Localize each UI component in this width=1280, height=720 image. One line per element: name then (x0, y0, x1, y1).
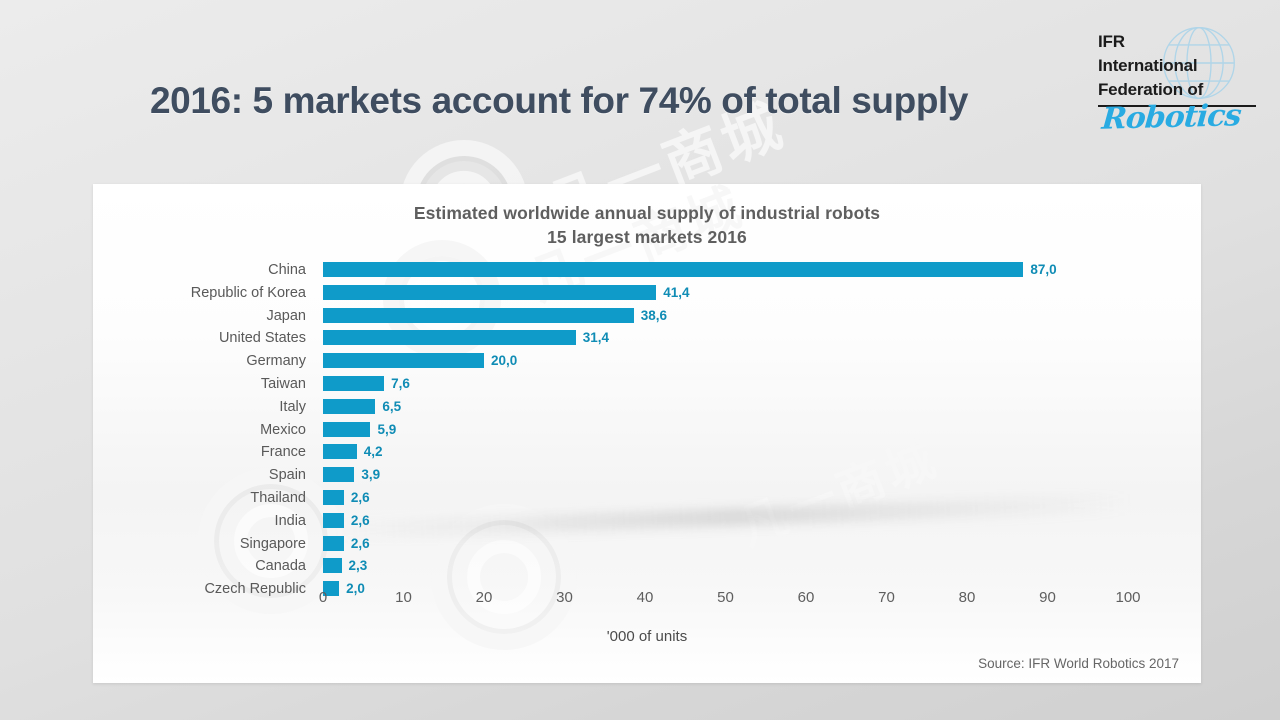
x-axis: 0102030405060708090100 (93, 589, 1201, 623)
category-label: Italy (93, 396, 315, 419)
x-axis-tick: 60 (798, 589, 815, 606)
bar-value-label: 4,2 (364, 443, 383, 460)
page-title: 2016: 5 markets account for 74% of total… (150, 80, 968, 122)
bar-value-label: 5,9 (377, 421, 396, 438)
x-axis-tick: 0 (319, 589, 327, 606)
bar-value-label: 2,3 (349, 557, 368, 574)
x-axis-tick: 10 (395, 589, 412, 606)
bar (323, 376, 384, 391)
logo-script-robotics: Robotics (1100, 98, 1241, 137)
bar-row: Canada2,3 (93, 555, 1201, 578)
bar-value-label: 20,0 (491, 352, 517, 369)
bar (323, 308, 634, 323)
bar-row: Republic of Korea41,4 (93, 282, 1201, 305)
bar (323, 262, 1023, 277)
bar (323, 513, 344, 528)
category-label: Spain (93, 464, 315, 487)
category-label: Thailand (93, 487, 315, 510)
bar-value-label: 38,6 (641, 307, 667, 324)
bar (323, 444, 357, 459)
bar (323, 353, 484, 368)
plot-area: China87,0Republic of Korea41,4Japan38,6U… (93, 259, 1201, 589)
x-axis-tick: 20 (476, 589, 493, 606)
category-label: France (93, 441, 315, 464)
bar (323, 330, 576, 345)
x-axis-tick: 70 (878, 589, 895, 606)
bar (323, 285, 656, 300)
bar-row: Thailand2,6 (93, 487, 1201, 510)
bar-value-label: 2,6 (351, 489, 370, 506)
bar-row: Spain3,9 (93, 464, 1201, 487)
category-label: China (93, 259, 315, 282)
slide-header: 2016: 5 markets account for 74% of total… (0, 0, 1280, 165)
bar-row: Taiwan7,6 (93, 373, 1201, 396)
category-label: Singapore (93, 533, 315, 556)
chart-title-line1: Estimated worldwide annual supply of ind… (414, 203, 880, 223)
chart-title-line2: 15 largest markets 2016 (93, 225, 1201, 249)
bar-row: Japan38,6 (93, 305, 1201, 328)
ifr-logo: IFR International Federation of Robotics (1072, 14, 1262, 124)
logo-line-international: International (1098, 56, 1197, 76)
bar (323, 490, 344, 505)
bar-row: Singapore2,6 (93, 533, 1201, 556)
bar-row: India2,6 (93, 510, 1201, 533)
category-label: United States (93, 327, 315, 350)
category-label: Japan (93, 305, 315, 328)
x-axis-tick: 80 (959, 589, 976, 606)
category-label: Mexico (93, 419, 315, 442)
bar-row: Italy6,5 (93, 396, 1201, 419)
x-axis-tick: 100 (1115, 589, 1140, 606)
bar-row: France4,2 (93, 441, 1201, 464)
source-note: Source: IFR World Robotics 2017 (978, 656, 1179, 671)
bar-row: China87,0 (93, 259, 1201, 282)
x-axis-title: '000 of units (93, 628, 1201, 645)
bar (323, 558, 342, 573)
logo-line-federation-of: Federation of (1098, 80, 1203, 100)
category-label: India (93, 510, 315, 533)
bar-value-label: 3,9 (361, 466, 380, 483)
bar (323, 399, 375, 414)
logo-line-ifr: IFR (1098, 32, 1125, 52)
chart-panel: 凡一商城 凡一商城 Estimated worldwide annual sup… (93, 184, 1201, 683)
bar-value-label: 41,4 (663, 284, 689, 301)
x-axis-tick: 50 (717, 589, 734, 606)
bar-row: Mexico5,9 (93, 419, 1201, 442)
x-axis-tick: 30 (556, 589, 573, 606)
bar-value-label: 31,4 (583, 329, 609, 346)
bar-value-label: 87,0 (1030, 261, 1056, 278)
category-label: Canada (93, 555, 315, 578)
bar-value-label: 6,5 (382, 398, 401, 415)
chart-title: Estimated worldwide annual supply of ind… (93, 201, 1201, 249)
bar-row: Germany20,0 (93, 350, 1201, 373)
bar-value-label: 2,6 (351, 535, 370, 552)
category-label: Germany (93, 350, 315, 373)
bar-row: United States31,4 (93, 327, 1201, 350)
bar (323, 467, 354, 482)
x-axis-tick: 40 (637, 589, 654, 606)
bar (323, 422, 370, 437)
bar-value-label: 7,6 (391, 375, 410, 392)
x-axis-tick: 90 (1039, 589, 1056, 606)
bar-value-label: 2,6 (351, 512, 370, 529)
bar (323, 536, 344, 551)
category-label: Republic of Korea (93, 282, 315, 305)
category-label: Taiwan (93, 373, 315, 396)
